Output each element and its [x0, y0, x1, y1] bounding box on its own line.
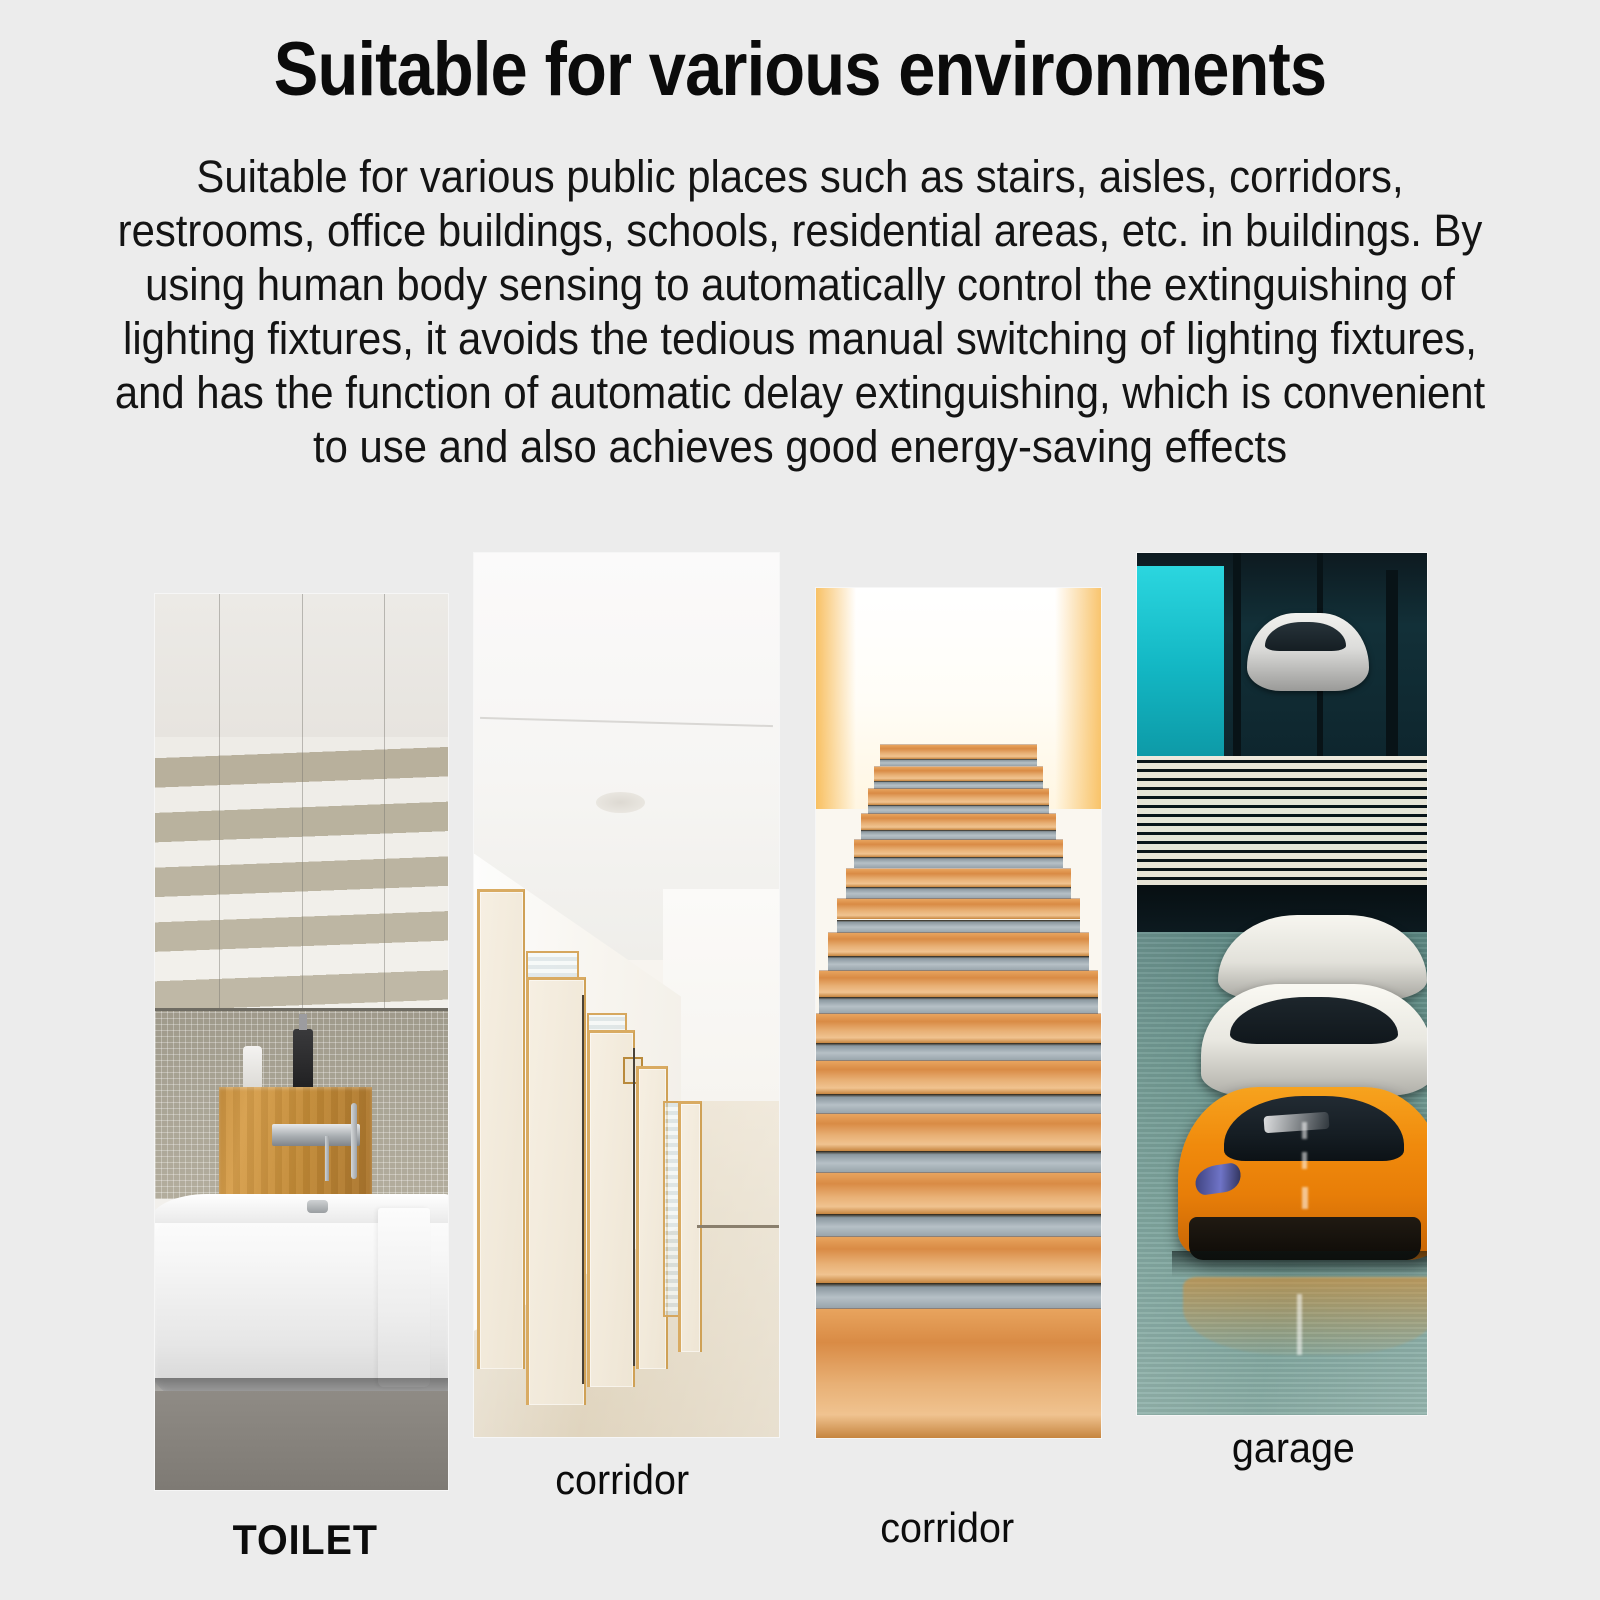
stair-riser — [828, 956, 1089, 971]
ceiling-vent — [596, 792, 645, 813]
caption-corridor-hallway: corridor — [555, 1456, 689, 1504]
stair-riser — [868, 805, 1049, 814]
orange-car-floor-reflection — [1183, 1277, 1427, 1355]
stair-tread — [846, 869, 1072, 888]
stair-riser — [874, 781, 1042, 790]
stair-steps — [816, 588, 1101, 1438]
stair-tread — [816, 1237, 1101, 1283]
hallway-door — [526, 977, 586, 1404]
car-lift-platform — [1137, 760, 1427, 898]
stair-tread — [861, 814, 1056, 830]
bathroom-floor — [155, 1391, 448, 1490]
tile-grout-line — [302, 594, 303, 1015]
support-column — [1233, 553, 1242, 777]
orange-car-shadow — [1172, 1251, 1427, 1277]
stair-riser — [816, 1151, 1101, 1173]
stair-riser — [854, 857, 1064, 868]
gallery-image-corridor-stairs[interactable] — [816, 588, 1101, 1438]
stair-riser — [837, 920, 1080, 934]
white-towel — [378, 1208, 431, 1387]
faucet-spout — [325, 1136, 329, 1181]
stair-tread — [837, 899, 1080, 919]
light-reflection-streak — [1302, 1122, 1307, 1139]
stair-tread — [874, 767, 1042, 781]
hallway-door — [477, 889, 525, 1369]
stair-tread — [819, 971, 1098, 997]
bathroom-photo — [155, 594, 448, 1490]
stair-riser — [880, 759, 1037, 767]
stair-tread — [816, 1309, 1101, 1438]
stair-tread — [880, 745, 1037, 759]
shampoo-bottle — [293, 1029, 314, 1096]
tile-grout-line — [384, 594, 385, 1015]
stair-riser — [816, 1043, 1101, 1062]
staircase-photo — [816, 588, 1101, 1438]
stair-riser — [816, 1283, 1101, 1309]
caption-corridor-stairs: corridor — [880, 1504, 1014, 1552]
stair-riser — [861, 830, 1056, 840]
support-column — [1386, 570, 1398, 777]
caption-garage: garage — [1232, 1424, 1355, 1472]
stair-riser — [819, 997, 1098, 1014]
hallway-door — [587, 1030, 635, 1387]
stair-tread — [868, 789, 1049, 804]
caption-toilet: TOILET — [233, 1516, 378, 1564]
baseboard — [697, 1225, 779, 1228]
stair-tread — [816, 1061, 1101, 1093]
bath-faucet — [272, 1124, 360, 1146]
hallway-photo — [474, 553, 779, 1437]
gallery-image-corridor-hallway[interactable] — [474, 553, 779, 1437]
garage-photo — [1137, 553, 1427, 1415]
stair-tread — [816, 1014, 1101, 1043]
stair-riser — [816, 1214, 1101, 1238]
environment-gallery: TOILET corridor — [0, 0, 1600, 1600]
door-gap — [582, 995, 584, 1384]
gallery-image-garage[interactable] — [1137, 553, 1427, 1415]
light-reflection-streak — [1297, 1294, 1302, 1354]
stair-riser — [816, 1094, 1101, 1114]
gallery-image-toilet[interactable] — [155, 594, 448, 1490]
stair-tread — [828, 933, 1089, 956]
stair-tread — [816, 1114, 1101, 1151]
door-gap — [633, 1048, 635, 1366]
bathtub-overflow — [307, 1200, 328, 1213]
shower-hose — [351, 1103, 357, 1179]
stair-tread — [816, 1173, 1101, 1214]
light-reflection-streak — [1302, 1152, 1307, 1169]
tile-grout-line — [219, 594, 220, 1015]
light-reflection-streak — [1302, 1187, 1308, 1209]
stair-tread — [854, 840, 1064, 857]
stair-riser — [846, 887, 1072, 899]
